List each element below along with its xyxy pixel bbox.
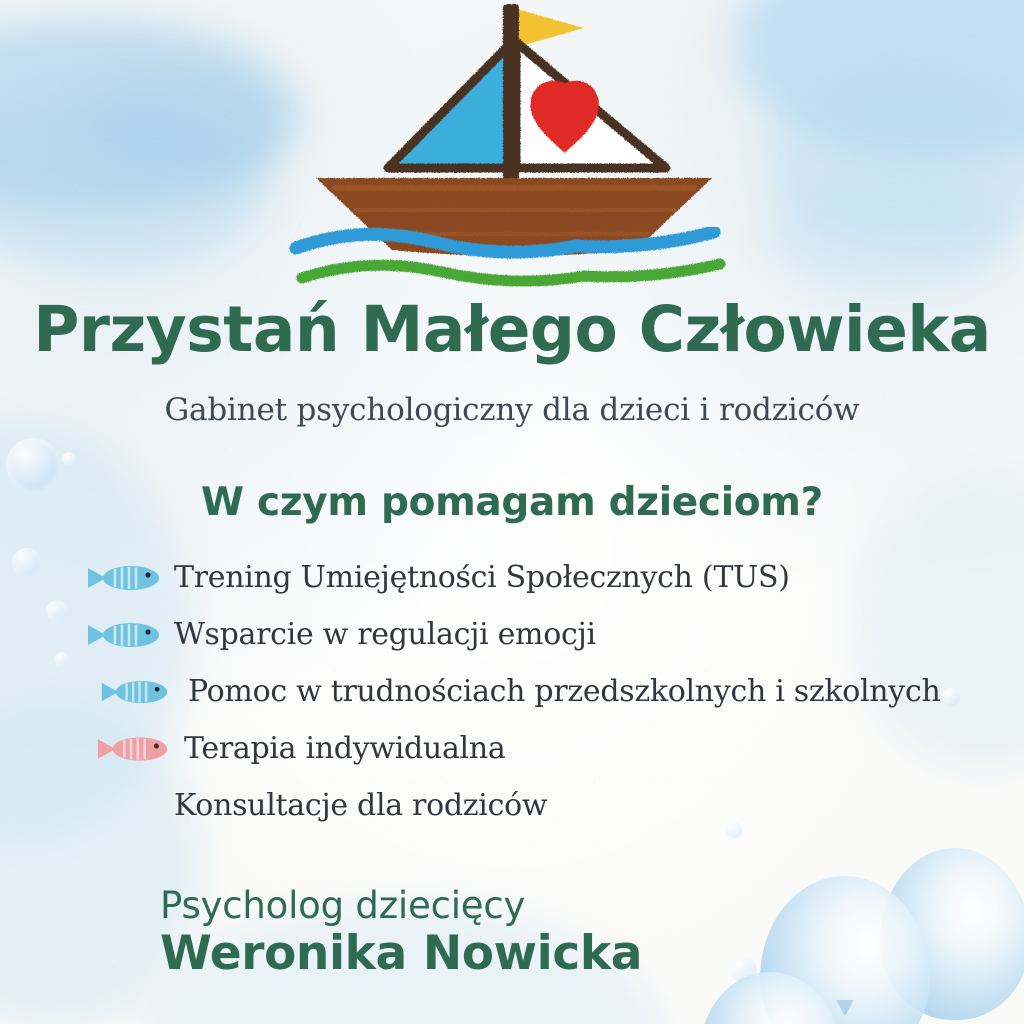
list-item: Terapia indywidualna: [86, 721, 986, 776]
list-item: Wsparcie w regulacji emocji: [86, 607, 986, 662]
service-label: Wsparcie w regulacji emocji: [174, 617, 596, 652]
services-list: Trening Umiejętności Społecznych (TUS) W…: [86, 550, 986, 835]
wave-green-icon: [302, 264, 720, 281]
signature-block: Psycholog dziecięcy Weronika Nowicka: [160, 885, 642, 981]
wash-top-left-1: [0, 20, 300, 210]
service-label: Pomoc w trudnościach przedszkolnych i sz…: [188, 674, 940, 709]
page-subtitle: Gabinet psychologiczny dla dzieci i rodz…: [0, 392, 1024, 428]
balloon-icon-back: [880, 848, 1024, 1020]
poster-canvas: Przystań Małego Człowieka Gabinet psycho…: [0, 0, 1024, 1024]
balloon-tail-icon: [836, 1000, 854, 1016]
pennant-flag-icon: [513, 8, 584, 48]
bubble-icon: [12, 548, 42, 578]
bubble-icon: [54, 652, 70, 668]
list-item: Pomoc w trudnościach przedszkolnych i sz…: [86, 664, 986, 719]
wash-top-left-2: [0, 100, 270, 270]
bubble-icon: [46, 600, 68, 622]
services-heading: W czym pomagam dzieciom?: [0, 480, 1024, 525]
wash-top-left-3: [80, 70, 280, 180]
list-item: Konsultacje dla rodziców: [86, 778, 986, 833]
fish-icon-blue: [86, 617, 174, 653]
wash-top-right-1: [734, 0, 1024, 160]
page-title: Przystań Małego Człowieka: [0, 298, 1024, 361]
list-item: Trening Umiejętności Społecznych (TUS): [86, 550, 986, 605]
fish-icon-blue: [86, 560, 174, 596]
bubble-icon: [62, 452, 76, 466]
balloon-icon-middle: [760, 876, 930, 1024]
fish-icon-blue: [86, 675, 188, 709]
balloon-icon-front: [700, 972, 840, 1024]
service-label: Terapia indywidualna: [184, 731, 505, 766]
service-label: Trening Umiejętności Społecznych (TUS): [174, 560, 790, 595]
sailboat-logo: [284, 0, 744, 296]
wash-top-right-3: [764, 175, 1014, 295]
signature-role: Psycholog dziecięcy: [160, 885, 642, 926]
signature-name: Weronika Nowicka: [160, 928, 642, 981]
service-label: Konsultacje dla rodziców: [174, 788, 547, 823]
wash-top-right-2: [764, 70, 1024, 250]
fish-icon-pink: [86, 731, 184, 767]
bubble-icon: [731, 957, 757, 983]
